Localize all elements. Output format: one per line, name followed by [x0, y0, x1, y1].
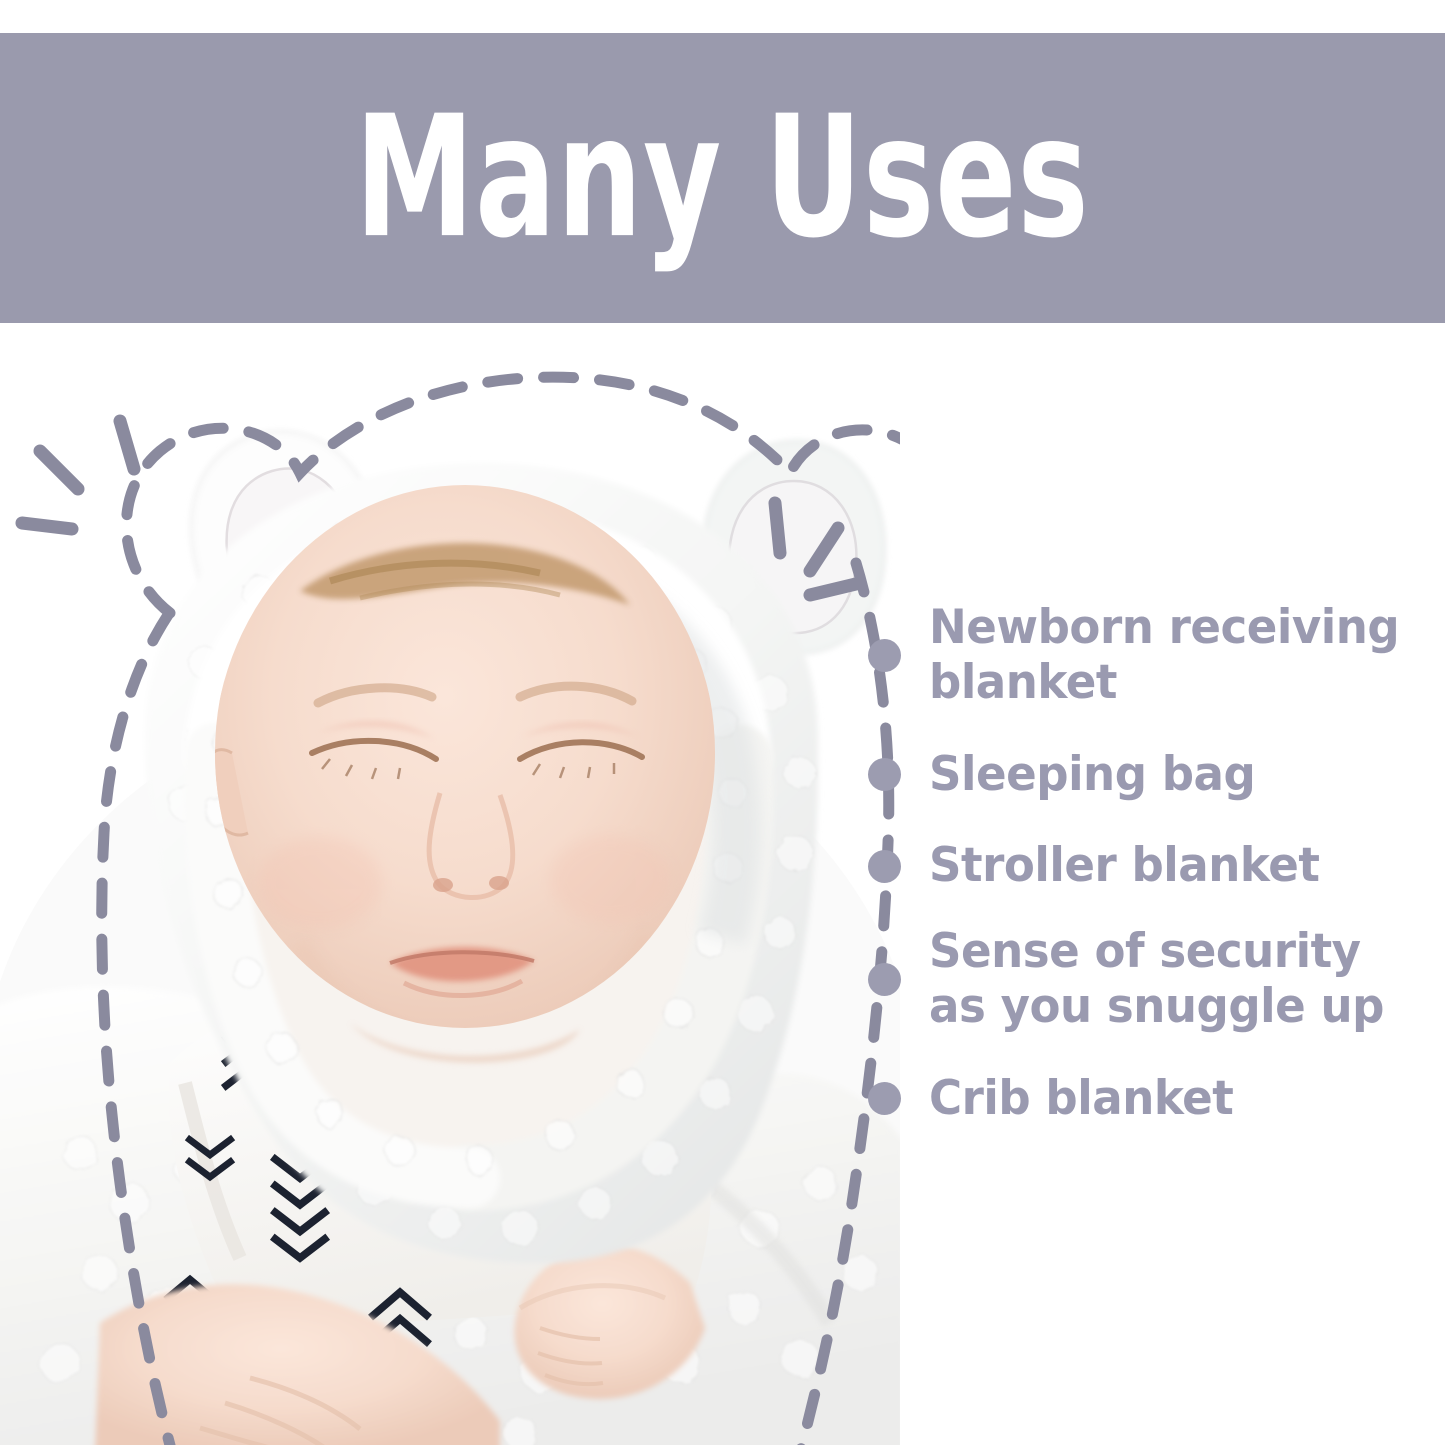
bullet-icon — [868, 1082, 901, 1115]
bullet-icon — [868, 758, 901, 791]
list-item: Sleeping bag — [868, 747, 1428, 802]
use-label: Sense of security as you snuggle up — [929, 924, 1408, 1035]
bullet-icon — [868, 850, 901, 883]
list-item: Newborn receiving blanket — [868, 600, 1428, 711]
bullet-icon — [868, 963, 901, 996]
baby-blanket-photo — [0, 323, 900, 1445]
page-title: Many Uses — [355, 94, 1090, 262]
use-label: Sleeping bag — [929, 747, 1255, 802]
list-item: Sense of security as you snuggle up — [868, 924, 1428, 1035]
header-banner: Many Uses — [0, 33, 1445, 323]
uses-list: Newborn receiving blanket Sleeping bag S… — [868, 600, 1428, 1162]
list-item: Crib blanket — [868, 1071, 1428, 1126]
use-label: Crib blanket — [929, 1071, 1233, 1126]
bullet-icon — [868, 639, 901, 672]
use-label: Stroller blanket — [929, 838, 1319, 893]
list-item: Stroller blanket — [868, 838, 1428, 893]
use-label: Newborn receiving blanket — [929, 600, 1408, 711]
product-photo-stage — [0, 323, 900, 1445]
infographic-page: Many Uses — [0, 0, 1445, 1445]
